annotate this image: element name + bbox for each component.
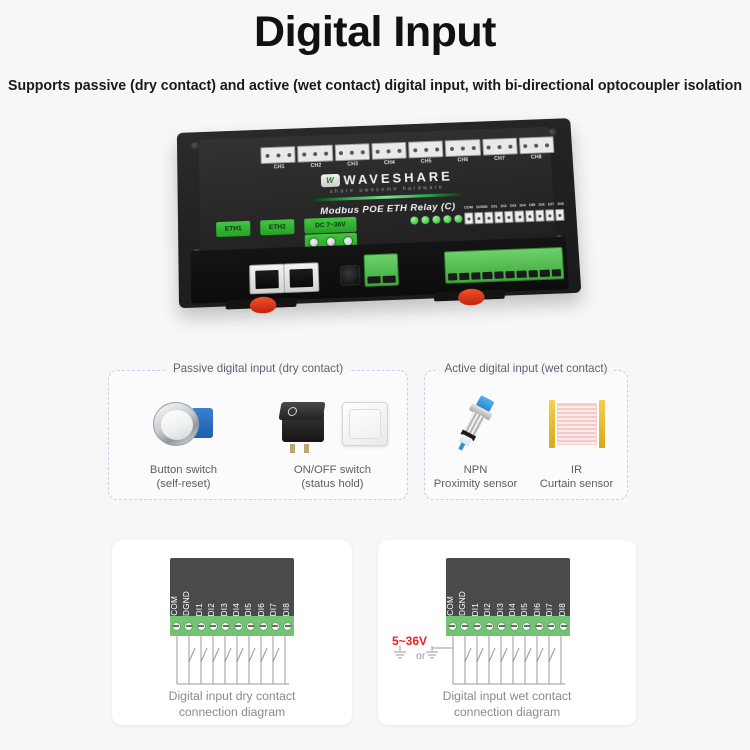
- status-led: [410, 216, 418, 224]
- dry-contact-card: COM DGND DI1 DI2 DI3 DI4 DI5 DI6 DI7 DI8: [112, 540, 352, 725]
- diagram-caption: Digital input dry contact connection dia…: [112, 688, 352, 721]
- terminal-label: COM: [446, 595, 458, 616]
- passive-sample-list: Button switch (self-reset) ON/OFF switch…: [109, 393, 407, 492]
- terminal-label: DI2: [483, 602, 495, 616]
- input-terminal-label: DI1: [491, 203, 497, 208]
- input-terminal-label: DI8: [557, 201, 563, 206]
- relay-terminal: [519, 136, 555, 154]
- terminal-label: COM: [170, 595, 182, 616]
- din-rail-clip: [250, 296, 277, 313]
- channel-label: CH6: [457, 157, 468, 163]
- input-terminal-label: DI7: [548, 201, 554, 206]
- sample-caption: ON/OFF switch (status hold): [294, 463, 371, 492]
- npn-proximity-sensor-icon: [451, 393, 501, 455]
- input-terminal-label: DI4: [519, 202, 525, 207]
- switch-wiring-svg: [170, 636, 294, 688]
- relay-terminal: [371, 142, 407, 160]
- input-terminal-label: DI3: [510, 203, 516, 208]
- passive-input-group: Passive digital input (dry contact) Butt…: [108, 370, 408, 500]
- terminal-label: DI3: [220, 602, 232, 616]
- status-led: [454, 215, 462, 223]
- sample-npn-sensor: NPN Proximity sensor: [425, 393, 526, 492]
- terminal-label: DI3: [496, 602, 508, 616]
- terminal-label: DI6: [257, 602, 269, 616]
- channel-label: CH8: [531, 154, 542, 160]
- wall-switch-icon: [342, 402, 388, 446]
- terminal-label-block: COM DGND DI1 DI2 DI3 DI4 DI5 DI6 DI7 DI8: [446, 558, 570, 616]
- channel-label: CH1: [274, 164, 285, 170]
- channel-label: CH7: [494, 156, 505, 162]
- wet-contact-card: COM DGND DI1 DI2 DI3 DI4 DI5 DI6 DI7 DI8…: [378, 540, 636, 725]
- eth2-label: ETH2: [260, 219, 294, 235]
- relay-terminal: [260, 146, 295, 164]
- input-terminal-label: DI2: [501, 203, 507, 208]
- terminal-label-block: COM DGND DI1 DI2 DI3 DI4 DI5 DI6 DI7 DI8: [170, 558, 294, 616]
- switch-wiring-svg: [432, 636, 572, 688]
- waveshare-logo-icon: W: [320, 174, 339, 188]
- relay-terminal: [445, 139, 481, 157]
- terminal-label: DI1: [471, 602, 483, 616]
- terminal-label: DI1: [195, 602, 207, 616]
- terminal-label: DI4: [508, 602, 520, 616]
- sample-caption: IR Curtain sensor: [540, 463, 613, 492]
- input-terminal-label: DI5: [529, 202, 535, 207]
- channel-label: CH2: [310, 163, 321, 169]
- rocker-switch-icon: [278, 393, 388, 455]
- green-terminal-2pin: [364, 253, 399, 287]
- terminal-label: DGND: [182, 590, 194, 616]
- rj45-port-1: [249, 264, 285, 295]
- status-led: [432, 216, 440, 224]
- eth1-label: ETH1: [216, 221, 250, 237]
- terminal-label: DI8: [282, 602, 294, 616]
- ir-curtain-sensor-icon: [549, 393, 605, 455]
- sample-caption: NPN Proximity sensor: [434, 463, 518, 492]
- passive-group-title: Passive digital input (dry contact): [167, 362, 349, 375]
- input-terminal-label: DGND: [476, 204, 488, 209]
- active-sample-list: NPN Proximity sensor IR Curtain sensor: [425, 393, 627, 492]
- relay-terminal: [297, 145, 332, 163]
- active-input-group: Active digital input (wet contact) NPN P…: [424, 370, 628, 500]
- terminal-label: DI4: [232, 602, 244, 616]
- din-rail-clip: [458, 288, 485, 305]
- input-terminal-label: DI6: [538, 202, 544, 207]
- device-body: CH1 CH2 CH3 CH4 CH5 CH6 CH7 CH8 W WAVESH…: [177, 118, 582, 308]
- terminal-label: DI5: [520, 602, 532, 616]
- terminal-screw-row: [446, 616, 570, 636]
- dc-jack: [340, 265, 361, 286]
- relay-terminal: [334, 143, 370, 161]
- dry-contact-diagram: COM DGND DI1 DI2 DI3 DI4 DI5 DI6 DI7 DI8: [112, 540, 352, 725]
- terminal-label: DI5: [244, 602, 256, 616]
- rj45-port-2: [283, 262, 319, 293]
- push-button-icon: [153, 393, 215, 455]
- sample-button-switch: Button switch (self-reset): [109, 393, 258, 492]
- status-led: [443, 215, 451, 223]
- terminal-label: DGND: [458, 590, 470, 616]
- relay-terminal: [482, 138, 518, 156]
- sample-ir-curtain: IR Curtain sensor: [526, 393, 627, 492]
- terminal-label: DI2: [207, 602, 219, 616]
- relay-terminal: [408, 140, 444, 158]
- active-group-title: Active digital input (wet contact): [438, 362, 613, 375]
- channel-label: CH3: [347, 161, 358, 167]
- dc-power-label: DC 7~36V: [304, 217, 357, 234]
- page-title: Digital Input: [0, 8, 750, 57]
- product-photo: CH1 CH2 CH3 CH4 CH5 CH6 CH7 CH8 W WAVESH…: [168, 118, 588, 318]
- terminal-label: DI7: [545, 602, 557, 616]
- diagram-caption: Digital input wet contact connection dia…: [378, 688, 636, 721]
- terminal-label: DI7: [269, 602, 281, 616]
- terminal-screw-row: [170, 616, 294, 636]
- terminal-label: DI6: [533, 602, 545, 616]
- terminal-label: DI8: [558, 602, 570, 616]
- page-subtitle: Supports passive (dry contact) and activ…: [6, 78, 745, 94]
- product-feature-page: Digital Input Supports passive (dry cont…: [0, 0, 750, 750]
- sample-onoff-switch: ON/OFF switch (status hold): [258, 393, 407, 492]
- channel-label: CH4: [384, 160, 395, 166]
- wet-contact-diagram: COM DGND DI1 DI2 DI3 DI4 DI5 DI6 DI7 DI8…: [378, 540, 636, 725]
- sample-caption: Button switch (self-reset): [150, 463, 217, 492]
- green-terminal-10pin: [444, 247, 564, 284]
- status-led: [421, 216, 429, 224]
- input-terminal-label: COM: [464, 204, 473, 209]
- channel-label: CH5: [421, 159, 432, 165]
